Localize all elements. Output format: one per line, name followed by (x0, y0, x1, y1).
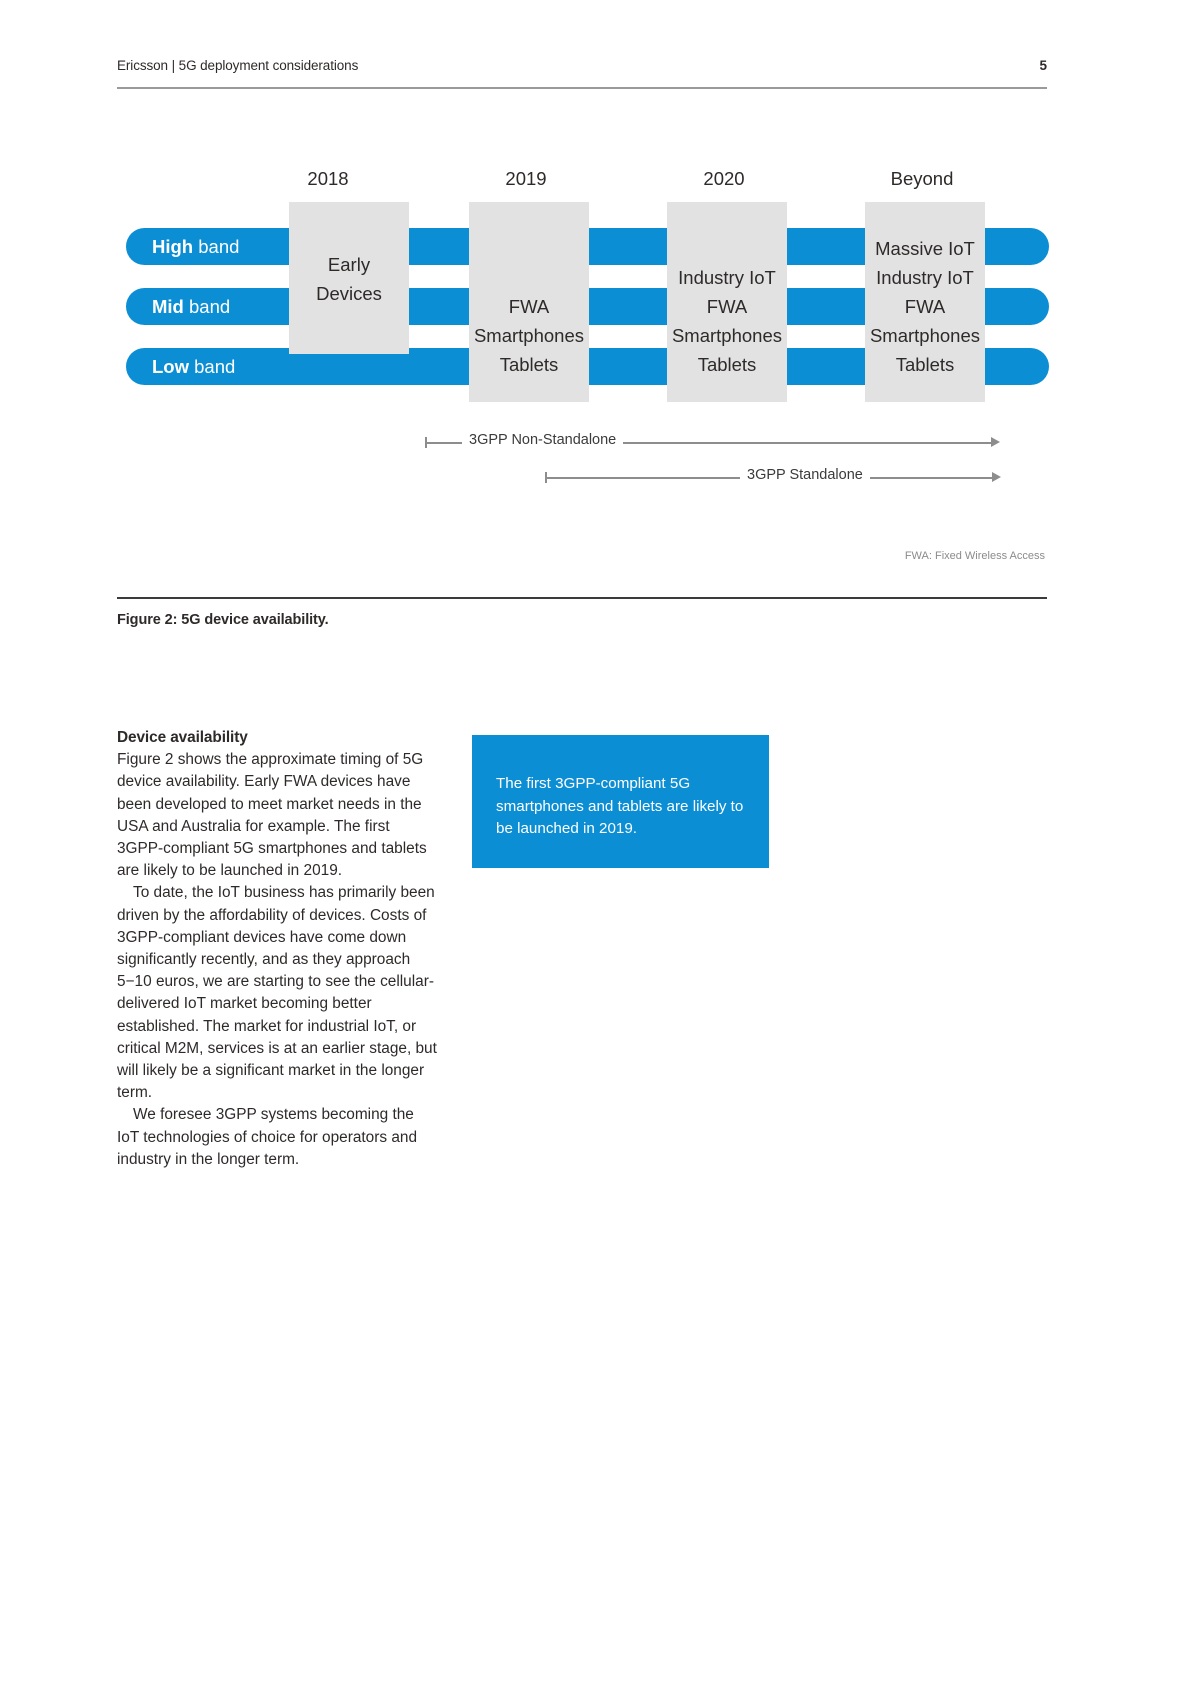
stage-box-beyond: Massive IoT Industry IoT FWA Smartphones… (865, 202, 985, 402)
stage-box-2019: FWA Smartphones Tablets (469, 202, 589, 402)
page-number: 5 (1039, 58, 1047, 73)
body-paragraph-2: To date, the IoT business has primarily … (117, 882, 439, 1104)
stage-2019-line-3: Tablets (469, 350, 589, 379)
stage-beyond-line-2: Industry IoT (865, 263, 985, 292)
stage-beyond-line-4: Smartphones (865, 321, 985, 350)
arrow-label-standalone: 3GPP Standalone (740, 467, 870, 483)
stage-2019-line-1: FWA (469, 292, 589, 321)
callout-text: The first 3GPP-compliant 5G smartphones … (496, 773, 751, 841)
stage-beyond-line-5: Tablets (865, 350, 985, 379)
band-label-low: Low band (152, 348, 235, 385)
stage-2020-line-3: Smartphones (667, 321, 787, 350)
arrow-3gpp-non-standalone: 3GPP Non-Standalone (425, 433, 1000, 453)
stage-2019-line-2: Smartphones (469, 321, 589, 350)
header-divider (117, 87, 1047, 89)
arrow-right-head-icon (992, 472, 1001, 482)
body-text-column: Device availability Figure 2 shows the a… (117, 727, 439, 1171)
stage-box-2020: Industry IoT FWA Smartphones Tablets (667, 202, 787, 402)
stage-beyond-line-3: FWA (865, 292, 985, 321)
stage-2020-line-2: FWA (667, 292, 787, 321)
body-heading: Device availability (117, 727, 439, 749)
stage-2020-line-4: Tablets (667, 350, 787, 379)
figure-5g-device-availability: 2018 2019 2020 Beyond High band Mid band… (0, 150, 1200, 580)
arrow-right-head-icon (991, 437, 1000, 447)
body-paragraph-1: Figure 2 shows the approximate timing of… (117, 749, 439, 882)
document-page: Ericsson | 5G deployment considerations … (0, 0, 1200, 1698)
arrow-3gpp-standalone: 3GPP Standalone (545, 468, 1001, 488)
figure-footnote: FWA: Fixed Wireless Access (905, 550, 1045, 562)
body-paragraph-3: We foresee 3GPP systems becoming the IoT… (117, 1104, 439, 1171)
figure-caption: Figure 2: 5G device availability. (117, 612, 329, 628)
arrow-label-non-standalone: 3GPP Non-Standalone (462, 432, 623, 448)
callout-box: The first 3GPP-compliant 5G smartphones … (472, 735, 769, 868)
stage-2020-line-1: Industry IoT (667, 263, 787, 292)
stage-2018-line-2: Devices (289, 279, 409, 308)
page-header: Ericsson | 5G deployment considerations … (117, 58, 1047, 90)
band-label-mid: Mid band (152, 288, 230, 325)
header-title: Ericsson | 5G deployment considerations (117, 58, 358, 73)
caption-divider (117, 597, 1047, 599)
band-label-high: High band (152, 228, 239, 265)
stage-box-2018: Early Devices (289, 202, 409, 354)
stage-beyond-line-1: Massive IoT (865, 234, 985, 263)
stage-2018-line-1: Early (289, 250, 409, 279)
band-bars-group: High band Mid band Low band (0, 150, 1200, 390)
